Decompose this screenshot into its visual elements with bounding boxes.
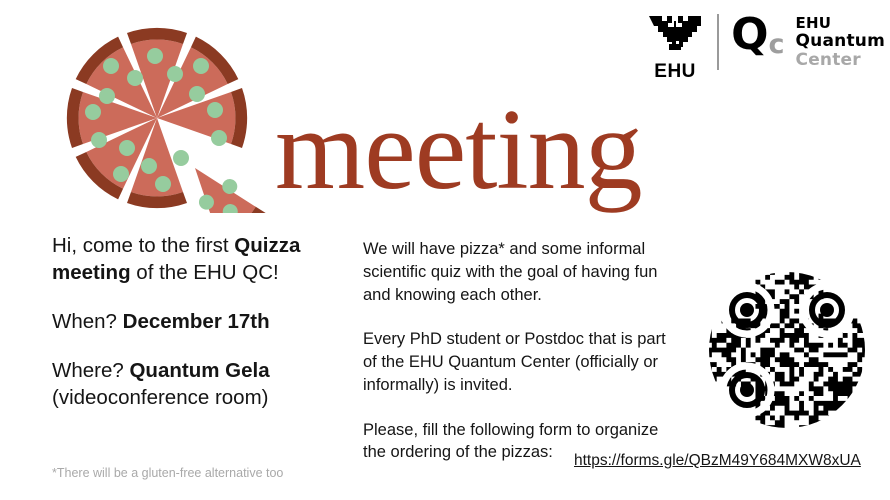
header-logo-block: EHU Q c EHU Quantum Center (645, 12, 885, 84)
form-link[interactable]: https://forms.gle/QBzM49Y684MXW8xUA (574, 452, 861, 470)
when-label: When? (52, 310, 123, 333)
invite-bold-quizza: Quizza (234, 234, 300, 257)
when-line: When? December 17th (52, 308, 352, 335)
description-column: We will have pizza* and some informal sc… (363, 238, 675, 464)
pizza-icon (62, 18, 272, 218)
where-line: Where? Quantum Gela (videoconference roo… (52, 357, 352, 411)
gluten-free-footnote: *There will be a gluten-free alternative… (52, 466, 283, 481)
qc-c-letter: c (769, 31, 785, 58)
qc-wordmark: EHU Quantum Center (796, 15, 885, 70)
logo-divider (717, 14, 719, 70)
title-lockup: meeting (62, 18, 662, 208)
invite-greeting: Hi, come to the first Quizza meeting of … (52, 232, 352, 286)
invite-lead-text: Hi, come to the first (52, 234, 234, 257)
qr-code-icon[interactable] (707, 270, 867, 430)
invite-tail-text: of the EHU QC! (131, 261, 279, 284)
where-sublabel: (videoconference room) (52, 384, 352, 411)
qc-monogram: Q c (731, 16, 784, 58)
qc-wordmark-line-2: Quantum (796, 32, 885, 51)
page-title: meeting (275, 92, 642, 208)
when-value: December 17th (123, 310, 270, 333)
qc-q-letter: Q (731, 16, 767, 55)
description-paragraph-1: We will have pizza* and some informal sc… (363, 238, 675, 306)
invite-details-column: Hi, come to the first Quizza meeting of … (52, 232, 352, 411)
qc-wordmark-line-3: Center (796, 51, 885, 70)
where-label: Where? (52, 359, 129, 382)
description-paragraph-2: Every PhD student or Postdoc that is par… (363, 328, 675, 396)
where-value: Quantum Gela (129, 359, 269, 382)
qc-wordmark-line-1: EHU (796, 15, 885, 32)
invite-bold-meeting: meeting (52, 261, 131, 284)
